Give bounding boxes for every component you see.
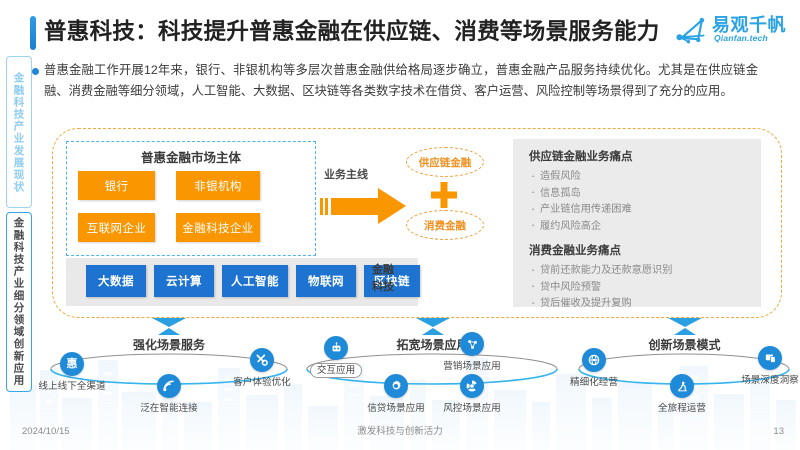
market-subject-title: 普惠金融市场主体 [66,147,316,166]
tech-label-line2: 科技 [372,279,414,296]
business-line-label: 业务主线 [324,166,368,182]
slide-root: 金融科技产业发展现状 金融科技产业细分领域创新应用 普惠科技：科技提升普惠金融在… [0,0,800,450]
bowtie-connector-icon [668,318,702,335]
sailboat-network-icon [674,14,710,48]
scene-node-label: 泛在智能连接 [121,400,217,414]
radiation-shield-icon [460,374,484,398]
scene-node[interactable]: 精细化经营 [546,348,642,388]
pain-list-consumer: 贷前还款能力及还款意愿识别 贷中风险预警 贷后催收及提升复购 [529,263,749,313]
pain-item: 产业链信用传递困难 [529,202,749,219]
scene-node-label: 场景深度洞察 [722,372,800,386]
monitor-screen-icon [758,346,782,370]
subject-bank[interactable]: 银行 [78,171,155,200]
bowtie-connector-icon [152,318,186,335]
brand-logo: 易观千帆 Qianfan.tech [674,10,792,52]
scene-node-label: 风控场景应用 [424,400,520,414]
megaphone-network-icon [460,332,484,356]
sidebar-item-status[interactable]: 金融科技产业发展现状 [6,56,32,208]
scene-node-label: 线上线下全渠道 [24,378,120,392]
scene-node[interactable]: 泛在智能连接 [121,374,217,414]
tech-iot[interactable]: 物联网 [296,265,356,297]
pain-item: 履约风险高企 [529,219,749,236]
scene-group-strengthen: 强化场景服务 惠 线上线下全渠道 泛在智能连接 [44,316,294,426]
pain-item: 造假风险 [529,169,749,186]
scene-node[interactable]: 交互应用 [288,336,384,378]
pain-points-panel: 供应链金融业务痛点 造假风险 信息孤岛 产业链信用传递困难 履约风险高企 消费金… [513,139,761,307]
scene-node[interactable]: 营销场景应用 [424,332,520,372]
tools-wrench-icon [250,348,274,372]
scene-node-label: 全旅程运营 [634,400,730,414]
paragraph-bullet-dot [32,68,39,75]
globe-network-icon [582,348,606,372]
plus-icon [429,180,459,210]
wifi-signal-icon [157,374,181,398]
scene-node[interactable]: 场景深度洞察 [722,346,800,386]
scene-node[interactable]: 惠 线上线下全渠道 [24,352,120,392]
pain-group-title-supply: 供应链金融业务痛点 [529,148,749,164]
person-journey-icon [670,374,694,398]
scene-node-label: 营销场景应用 [424,358,520,372]
subject-nonbank[interactable]: 非银机构 [176,171,260,200]
pain-item: 贷前还款能力及还款意愿识别 [529,263,749,280]
subject-fintech[interactable]: 金融科技企业 [176,213,260,242]
tech-bigdata[interactable]: 大数据 [86,265,146,297]
target-supply-chain-finance: 供应链金融 [406,147,484,177]
scene-node[interactable]: 风控场景应用 [424,374,520,414]
pain-item: 信息孤岛 [529,186,749,203]
footer-slogan: 激发科技与创新活力 [0,423,800,437]
subject-internet[interactable]: 互联网企业 [78,213,155,242]
scene-node-label: 精细化经营 [546,374,642,388]
tech-ai[interactable]: 人工智能 [222,265,288,297]
intro-paragraph: 普惠金融工作开展12年来，银行、非银机构等多层次普惠金融供给格局逐步确立，普惠金… [44,60,758,102]
sidebar: 金融科技产业发展现状 金融科技产业细分领域创新应用 [6,56,32,392]
tech-label-line1: 金融 [372,262,414,279]
scene-group-expand: 拓宽场景应用 交互应用 信贷场景应用 [300,316,565,426]
tech-category-label: 金融 科技 [372,262,414,296]
right-arrow-icon [320,185,410,227]
page-title: 普惠科技：科技提升普惠金融在供应链、消费等场景服务能力 [44,14,684,50]
robot-chat-icon [324,336,348,360]
hui-glyph: 惠 [67,359,78,370]
footer-page-number: 13 [773,426,784,437]
logo-text-en: Qianfan.tech [714,33,768,43]
pain-item: 贷后催收及提升复购 [529,296,749,313]
sidebar-item-label: 金融科技产业发展现状 [12,72,27,193]
tech-cloud[interactable]: 云计算 [154,265,214,297]
title-accent-bar [30,16,36,50]
scene-node[interactable]: 全旅程运营 [634,374,730,414]
hui-character-icon: 惠 [60,352,84,376]
scene-group-innovate: 创新场景模式 精细化经营 [572,316,797,426]
pain-item: 贷中风险预警 [529,280,749,297]
pain-list-supply: 造假风险 信息孤岛 产业链信用传递困难 履约风险高企 [529,169,749,235]
pain-group-title-consumer: 消费金融业务痛点 [529,242,749,258]
target-consumer-finance: 消费金融 [406,210,484,240]
gear-icon [384,374,408,398]
